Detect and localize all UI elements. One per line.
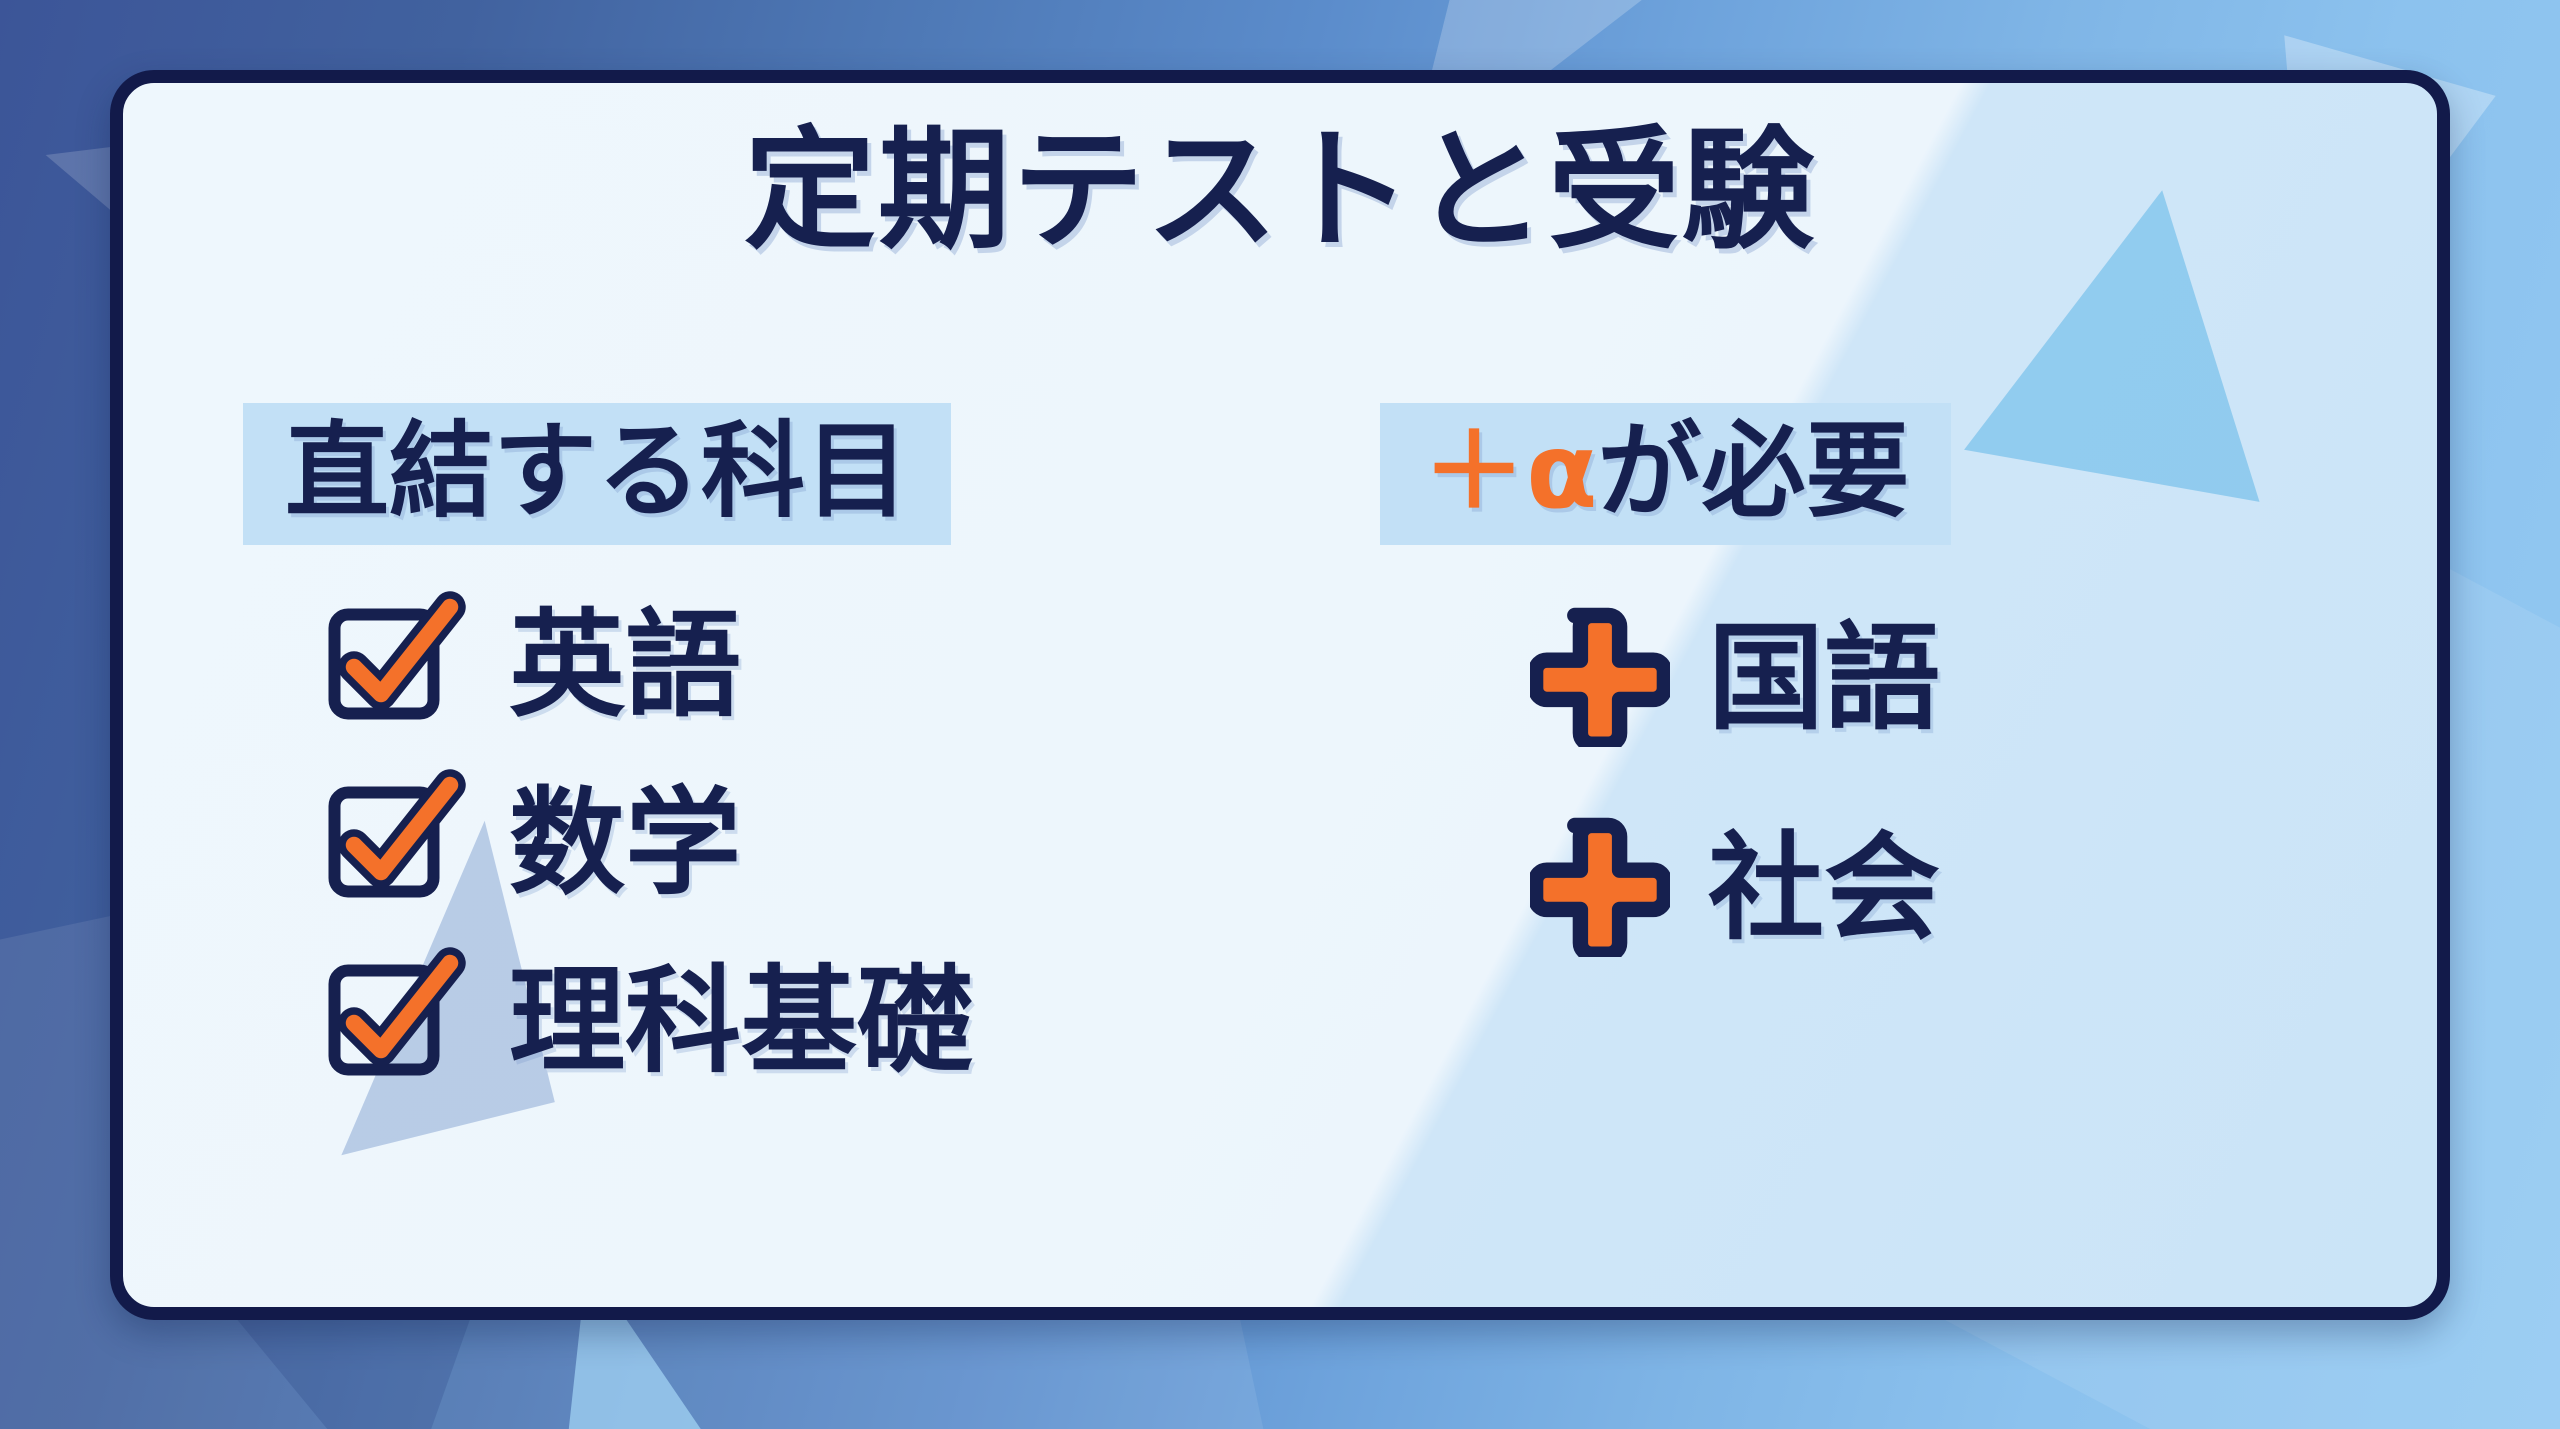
infographic-canvas: 定期テストと受験 直結する科目 英語 [0,0,2560,1429]
content-card: 定期テストと受験 直結する科目 英語 [110,70,2450,1320]
column-direct-subjects: 直結する科目 英語 [143,403,1280,1099]
list-item-label: 英語 [509,608,741,724]
column-header-direct-subjects: 直結する科目 [243,403,951,545]
list-item-label: 理科基礎 [509,964,973,1080]
list-item-label: 数学 [509,786,741,902]
checkbox-checked-icon [321,945,471,1099]
list-item-label: 国語 [1708,621,1940,737]
list-item[interactable]: 理科基礎 [321,945,1280,1099]
list-item[interactable]: 英語 [321,589,1280,743]
subject-list-plus-alpha: 国語 社会 [1280,607,2417,961]
page-title: 定期テストと受験 [123,125,2437,257]
plus-icon [1530,607,1670,751]
list-item-label: 社会 [1708,831,1940,947]
checkbox-checked-icon [321,767,471,921]
list-item[interactable]: 数学 [321,767,1280,921]
column-header-accent: ＋α [1422,410,1597,532]
column-header-rest: が必要 [1597,410,1909,532]
plus-icon [1530,817,1670,961]
list-item[interactable]: 国語 [1530,607,2417,751]
list-item[interactable]: 社会 [1530,817,2417,961]
subject-list-direct: 英語 数学 [143,589,1280,1099]
column-plus-alpha-subjects: ＋αが必要 国語 [1280,403,2417,1099]
columns-container: 直結する科目 英語 [123,403,2437,1099]
column-header-plus-alpha: ＋αが必要 [1380,403,1951,545]
checkbox-checked-icon [321,589,471,743]
